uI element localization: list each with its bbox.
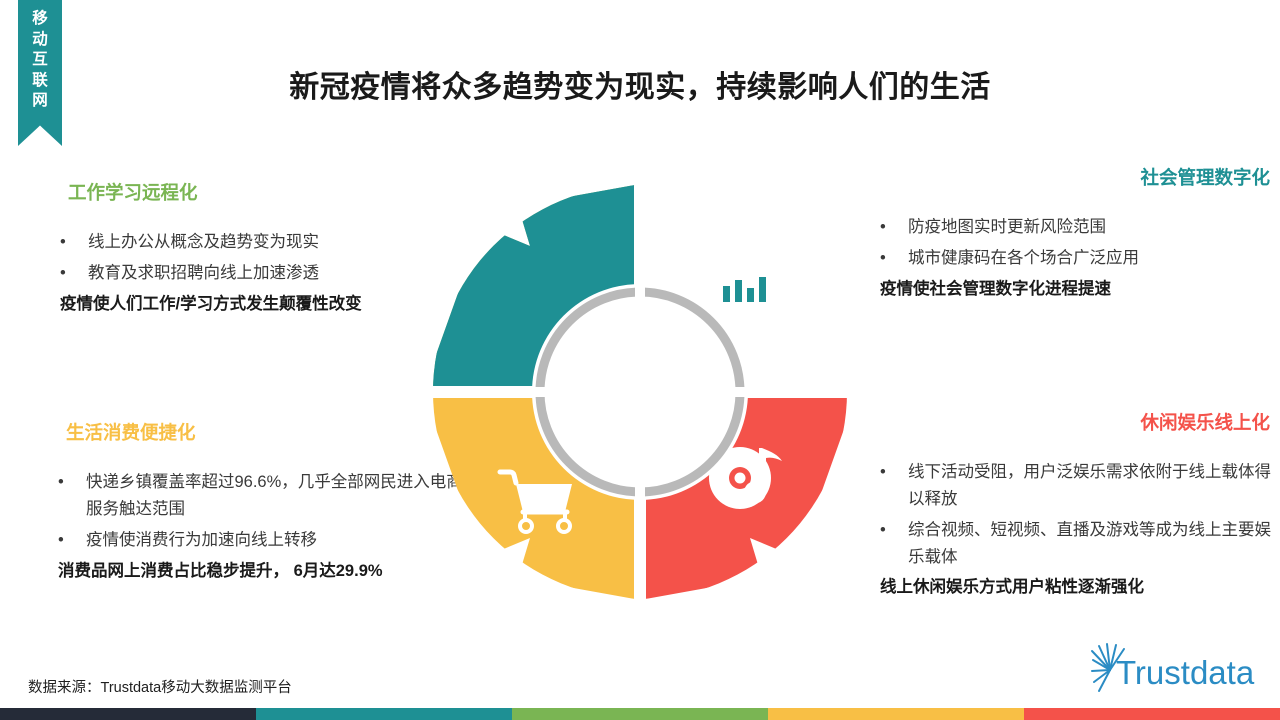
color-bar-segment-3 — [768, 708, 1024, 720]
bullet-text: 教育及求职招聘向线上加速渗透 — [88, 260, 460, 287]
bullet-dot: • — [58, 469, 86, 522]
list-item: • 疫情使消费行为加速向线上转移 — [58, 527, 463, 554]
bullet-text: 快递乡镇覆盖率超过96.6%，几乎全部网民进入电商服务触达范围 — [86, 469, 463, 522]
quadrant-block-work: 工作学习远程化 • 线上办公从概念及趋势变为现实 • 教育及求职招聘向线上加速渗… — [60, 183, 460, 317]
color-bar-segment-0 — [0, 708, 256, 720]
list-item: • 城市健康码在各个场合广泛应用 — [880, 245, 1280, 272]
ribbon-char-0: 移 — [32, 9, 48, 30]
bullet-text: 线上办公从概念及趋势变为现实 — [88, 229, 460, 256]
list-item: • 快递乡镇覆盖率超过96.6%，几乎全部网民进入电商服务触达范围 — [58, 469, 463, 522]
source-note: 数据来源：Trustdata移动大数据监测平台 — [28, 676, 292, 697]
quadrant-block-consume: 生活消费便捷化 • 快递乡镇覆盖率超过96.6%，几乎全部网民进入电商服务触达范… — [58, 423, 463, 584]
bullet-list-social: • 防疫地图实时更新风险范围 • 城市健康码在各个场合广泛应用 — [880, 214, 1280, 271]
quadrant-conclusion-leisure: 线上休闲娱乐方式用户粘性逐渐强化 — [880, 574, 1280, 600]
bullet-dot: • — [60, 229, 88, 256]
bullet-dot: • — [880, 214, 908, 241]
bullet-list-leisure: • 线下活动受阻，用户泛娱乐需求依附于线上载体得以释放 • 综合视频、短视频、直… — [880, 459, 1280, 570]
list-item: • 线下活动受阻，用户泛娱乐需求依附于线上载体得以释放 — [880, 459, 1280, 512]
color-bar-segment-1 — [256, 708, 512, 720]
quadrant-heading-consume: 生活消费便捷化 — [58, 423, 463, 443]
bullet-text: 城市健康码在各个场合广泛应用 — [908, 245, 1280, 272]
bullet-text: 疫情使消费行为加速向线上转移 — [86, 527, 463, 554]
bottom-color-bar — [0, 708, 1280, 720]
bullet-dot: • — [58, 527, 86, 554]
ribbon-char-1: 动 — [32, 30, 48, 51]
list-item: • 线上办公从概念及趋势变为现实 — [60, 229, 460, 256]
quadrant-conclusion-consume: 消费品网上消费占比稳步提升， 6月达29.9% — [58, 558, 463, 584]
quadrant-block-social: 社会管理数字化 • 防疫地图实时更新风险范围 • 城市健康码在各个场合广泛应用 … — [880, 168, 1280, 302]
bullet-text: 线下活动受阻，用户泛娱乐需求依附于线上载体得以释放 — [908, 459, 1280, 512]
quadrant-heading-work: 工作学习远程化 — [60, 183, 460, 203]
trustdata-logo: Trustdata — [1086, 640, 1266, 702]
quadrant-heading-social: 社会管理数字化 — [880, 168, 1280, 188]
bullet-dot: • — [880, 245, 908, 272]
bullet-dot: • — [60, 260, 88, 287]
quadrant-heading-leisure: 休闲娱乐线上化 — [880, 413, 1280, 433]
quadrant-conclusion-social: 疫情使社会管理数字化进程提速 — [880, 276, 1280, 302]
bullet-dot: • — [880, 517, 908, 570]
color-bar-segment-4 — [1024, 708, 1280, 720]
page-title: 新冠疫情将众多趋势变为现实，持续影响人们的生活 — [0, 62, 1280, 106]
list-item: • 防疫地图实时更新风险范围 — [880, 214, 1280, 241]
bullet-dot: • — [880, 459, 908, 512]
list-item: • 教育及求职招聘向线上加速渗透 — [60, 260, 460, 287]
color-bar-segment-2 — [512, 708, 768, 720]
bullet-list-consume: • 快递乡镇覆盖率超过96.6%，几乎全部网民进入电商服务触达范围 • 疫情使消… — [58, 469, 463, 553]
list-item: • 综合视频、短视频、直播及游戏等成为线上主要娱乐载体 — [880, 517, 1280, 570]
bullet-text: 综合视频、短视频、直播及游戏等成为线上主要娱乐载体 — [908, 517, 1280, 570]
quadrant-block-leisure: 休闲娱乐线上化 • 线下活动受阻，用户泛娱乐需求依附于线上载体得以释放 • 综合… — [880, 413, 1280, 601]
cycle-diagram — [430, 182, 850, 602]
trustdata-logo-text: Trustdata — [1116, 654, 1255, 691]
quadrant-conclusion-work: 疫情使人们工作/学习方式发生颠覆性改变 — [60, 291, 460, 317]
monitor-chart-icon — [712, 266, 778, 332]
bullet-list-work: • 线上办公从概念及趋势变为现实 • 教育及求职招聘向线上加速渗透 — [60, 229, 460, 286]
bullet-text: 防疫地图实时更新风险范围 — [908, 214, 1280, 241]
